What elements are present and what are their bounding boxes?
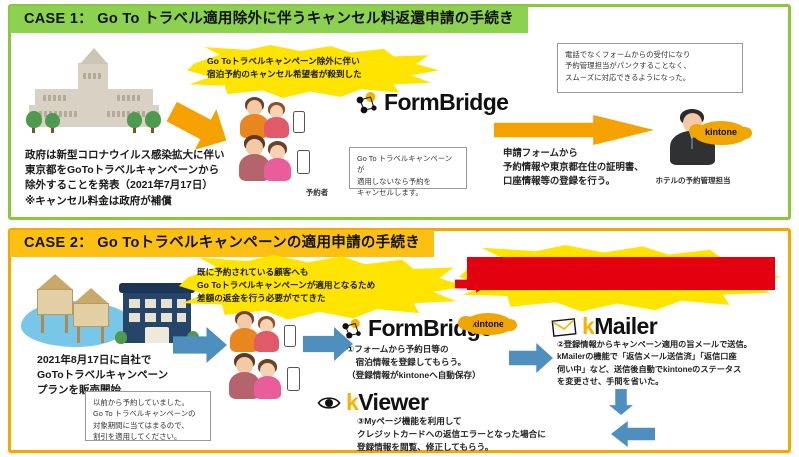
case-1-reserver-bubble: Go To トラベルキャンペーンが 適用しないなら予約を キャンセルします。 (349, 147, 467, 189)
case-1-manager-bubble: 電話でなくフォームからの受付になり 予約管理担当がパンクすることなく、 スムーズ… (557, 43, 743, 93)
case-1-issue-text: Go Toトラベルキャンペーン除外に伴い 宿泊予約のキャンセル希望者が殺到した (207, 55, 433, 81)
formbridge-mark-icon (355, 91, 379, 115)
case-1-banner: CASE 1： Go To トラベル適用除外に伴うキャンセル料返還申請の手続き (10, 6, 528, 33)
case-2-panel: CASE 2： Go Toトラベルキャンペーンの適用申請の手続き (8, 228, 791, 453)
national-diet-building-illustration (29, 49, 159, 137)
case-2-result-text: 返金業務を自動化し、約7000件電話対応するところを 全てフォームから自動登録す… (467, 257, 775, 290)
case-2-kviewer-logo: kViewer (317, 389, 428, 416)
case-2-kmailer-logo: kMailer (551, 313, 657, 340)
case-1-formbridge-logo: FormBridge (355, 89, 508, 116)
case-1-arrow-2 (494, 115, 654, 145)
formbridge-mark-icon (341, 318, 363, 340)
case-2-kmailer-name: kMailer (582, 313, 657, 340)
case-2-issue-text: 既に予約されている顧客へも Go Toトラベルキャンペーンが適用となるため 差額… (197, 266, 453, 305)
eye-icon (317, 394, 341, 412)
case-2-kmailer-step: ②登録情報からキャンペーン適用の旨メールで送信。 kMailerの機能で「返信メ… (557, 339, 787, 388)
case-1-formbridge-name: FormBridge (384, 89, 508, 116)
envelope-icon (551, 317, 577, 337)
case-2-kintone-badge: kintone (463, 313, 513, 335)
case-2-kviewer-step: ③Myページ機能を利用して クレジットカードへの返信エラーとなった場合に 登録情… (357, 415, 627, 454)
case-1-customers-illustration (239, 95, 349, 187)
case-1-panel: CASE 1： Go To トラベル適用除外に伴うキャンセル料返還申請の手続き (8, 4, 791, 220)
case-1-reserver-caption: 予約者 (297, 187, 337, 198)
case-1-manager-caption: ホテルの予約管理担当 (641, 175, 745, 186)
case-2-kviewer-name: kViewer (346, 389, 428, 416)
case-2-customer-bubble: 以前から予約していました。 Go To トラベルキャンペーンの 対象期間に当ては… (85, 391, 211, 441)
case-2-banner: CASE 2： Go Toトラベルキャンペーンの適用申請の手続き (10, 230, 434, 257)
case-2-arrow-down (609, 389, 633, 415)
case-1-kintone-badge: kintone (694, 121, 748, 145)
case-2-formbridge-step: ①フォームから予約日等の 宿泊情報を登録してもらう。 （登録情報がkintone… (347, 343, 537, 382)
infographic-page: CASE 1： Go To トラベル適用除外に伴うキャンセル料返還申請の手続き (0, 0, 799, 457)
